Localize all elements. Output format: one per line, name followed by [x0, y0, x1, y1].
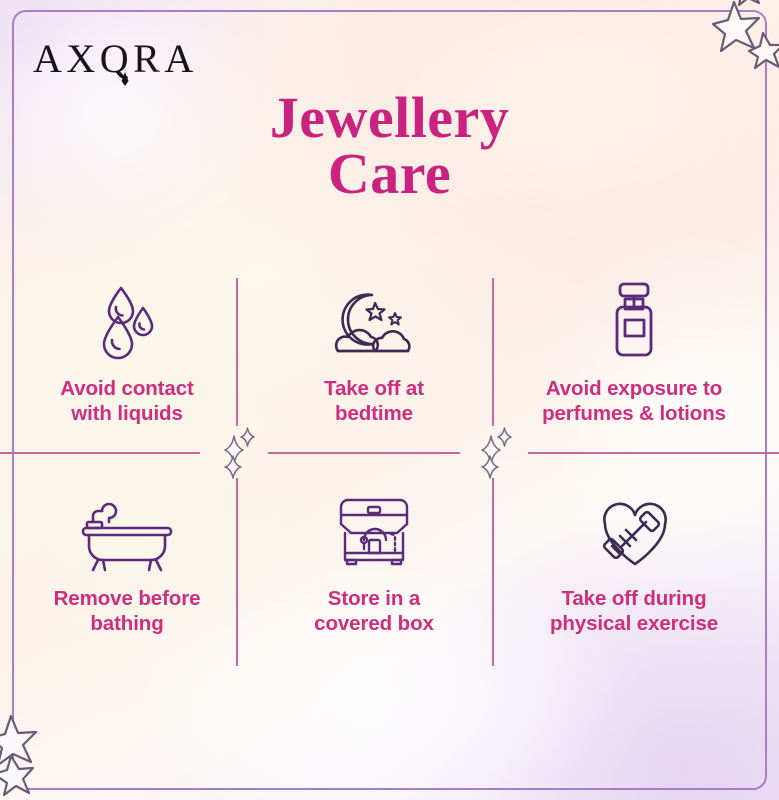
- care-tip-label-line-1: Avoid exposure to: [546, 377, 722, 400]
- care-tip-label-line-1: Take off during: [561, 587, 706, 610]
- care-tip-label-line-1: Remove before: [54, 587, 201, 610]
- jewellery-care-poster: AXQRA Jewellery Care: [0, 0, 779, 800]
- care-tip-label: Store in a covered box: [253, 586, 495, 636]
- care-tip-item: Store in a covered box: [253, 484, 495, 636]
- care-tip-label: Avoid exposure to perfumes & lotions: [498, 376, 770, 426]
- five-point-star-cluster-icon: [0, 704, 82, 800]
- care-tip-label: Avoid contact with liquids: [6, 376, 248, 426]
- care-tip-label: Take off during physical exercise: [498, 586, 770, 636]
- jewellery-box-icon: [253, 484, 495, 570]
- perfume-bottle-icon: [498, 274, 770, 360]
- care-tip-label-line-2: covered box: [253, 611, 495, 636]
- five-point-star-cluster-icon: [675, 0, 779, 100]
- care-tips-grid: Avoid contact with liquids: [0, 262, 779, 682]
- svg-text:AXQRA: AXQRA: [33, 36, 198, 81]
- page-title: Jewellery Care: [0, 90, 779, 203]
- care-tip-item: Remove before bathing: [6, 484, 248, 636]
- page-title-line-1: Jewellery: [270, 85, 510, 150]
- water-drops-icon: [6, 274, 248, 360]
- care-tip-label-line-1: Avoid contact: [60, 377, 193, 400]
- brand-logo-wordmark: AXQRA: [33, 36, 243, 88]
- care-tip-item: Avoid contact with liquids: [6, 274, 248, 426]
- brand-logo: AXQRA: [33, 36, 243, 88]
- moon-cloud-stars-icon: [253, 274, 495, 360]
- care-tip-label: Remove before bathing: [6, 586, 248, 636]
- care-tip-item: Take off at bedtime: [253, 274, 495, 426]
- bathtub-icon: [6, 484, 248, 570]
- care-tip-label-line-2: bedtime: [253, 401, 495, 426]
- care-tip-item: Avoid exposure to perfumes & lotions: [498, 274, 770, 426]
- care-tip-label-line-2: perfumes & lotions: [498, 401, 770, 426]
- care-tip-label-line-2: physical exercise: [498, 611, 770, 636]
- care-tip-label-line-2: bathing: [6, 611, 248, 636]
- page-title-line-2: Care: [0, 146, 779, 202]
- care-tip-label-line-2: with liquids: [6, 401, 248, 426]
- heart-dumbbell-icon: [498, 484, 770, 570]
- care-tip-label-line-1: Store in a: [328, 587, 420, 610]
- care-tip-item: Take off during physical exercise: [498, 484, 770, 636]
- care-tip-label-line-1: Take off at: [324, 377, 424, 400]
- care-tip-label: Take off at bedtime: [253, 376, 495, 426]
